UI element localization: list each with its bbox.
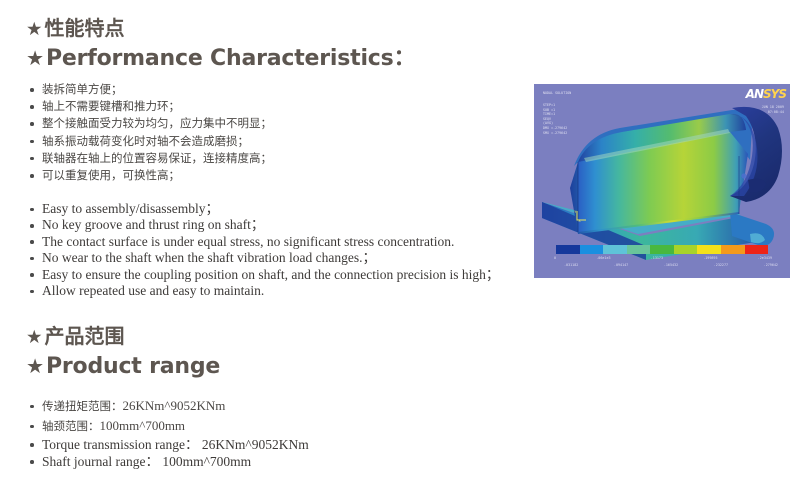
colorbar-label: 0 xyxy=(554,256,556,261)
colorbar-segment-7 xyxy=(721,245,745,254)
list-item: No key groove and thrust ring on shaft； xyxy=(30,217,499,233)
list-item: Easy to assembly/disassembly； xyxy=(30,201,499,217)
list-item: The contact surface is under equal stres… xyxy=(30,234,499,250)
product-range-bullets-cn: 传递扭矩范围：26KNm^9052KNm 轴颈范围：100mm^700mm xyxy=(30,396,225,436)
colorbar-segment-0 xyxy=(556,245,580,254)
colorbar-label: .094147 xyxy=(614,263,628,268)
product-range-bullets-en: Torque transmission range： 26KNm^9052KNm… xyxy=(30,436,309,470)
product-range-heading-cn-text: 产品范围 xyxy=(45,324,125,348)
colorbar-segment-4 xyxy=(650,245,674,254)
list-item: 传递扭矩范围：26KNm^9052KNm xyxy=(30,396,225,416)
list-item: 装拆简单方便； xyxy=(30,81,272,98)
product-range-heading-block: ★产品范围 ★Product range xyxy=(26,323,220,382)
colorbar-segment-3 xyxy=(627,245,651,254)
product-range-heading-en-text: Product range xyxy=(46,354,220,379)
product-range-heading-en: ★Product range xyxy=(26,351,220,382)
list-item: Torque transmission range： 26KNm^9052KNm xyxy=(30,436,309,453)
colorbar-segment-1 xyxy=(580,245,604,254)
fea-title-note: NODAL SOLUTION xyxy=(543,91,571,96)
colorbar-label: .13173 xyxy=(651,256,663,261)
performance-heading-cn-text: 性能特点 xyxy=(45,16,125,40)
ansys-logo: ANSYS xyxy=(746,88,786,100)
axis-triad-icon: X Y xyxy=(574,209,588,223)
star-icon: ★ xyxy=(26,325,43,351)
performance-heading-block: ★性能特点 ★Performance Characteristics： xyxy=(26,15,415,74)
list-item: 整个接触面受力较为均匀，应力集中不明显； xyxy=(30,115,272,132)
list-item: Easy to ensure the coupling position on … xyxy=(30,267,499,283)
ansys-logo-sys: SYS xyxy=(763,87,786,101)
performance-bullets-cn: 装拆简单方便； 轴上不需要键槽和推力环； 整个接触面受力较为均匀，应力集中不明显… xyxy=(30,81,272,184)
fea-meta-note: STEP=1 SUB =1 TIME=1 SEQV (AVG) DMX =.27… xyxy=(543,103,567,135)
star-icon: ★ xyxy=(26,43,44,73)
performance-heading-cn: ★性能特点 xyxy=(26,15,415,43)
journal-range-label: 轴颈范围： xyxy=(42,419,100,433)
torque-range-value: 26KNm^9052KNm xyxy=(123,398,226,413)
product-range-heading-cn: ★产品范围 xyxy=(26,323,220,351)
torque-range-label: 传递扭矩范围： xyxy=(42,399,123,413)
performance-bullets-en: Easy to assembly/disassembly； No key gro… xyxy=(30,201,499,299)
fea-timestamp-note: JUN 18 2009 07:08:44 xyxy=(762,105,784,114)
colorbar-label: .165432 xyxy=(664,263,678,268)
colorbar-segment-5 xyxy=(674,245,698,254)
list-item: 可以重复使用，可换性高； xyxy=(30,167,272,184)
star-icon: ★ xyxy=(26,17,43,43)
colorbar-segment-8 xyxy=(745,245,769,254)
colorbar-label: .031182 xyxy=(564,263,578,268)
ansys-logo-an: AN xyxy=(746,87,763,101)
list-item: 轴颈范围：100mm^700mm xyxy=(30,416,225,436)
fea-colorbar-labels-top: 0.06e1e3.13173.199895.2e3439 xyxy=(554,256,772,261)
performance-heading-en-text: Performance Characteristics： xyxy=(46,46,415,71)
colorbar-segment-2 xyxy=(603,245,627,254)
colorbar-label: .279642 xyxy=(764,263,778,268)
ansys-fea-figure: X Y NODAL SOLUTION STEP=1 SUB =1 TIME=1 … xyxy=(534,84,790,278)
list-item: Allow repeated use and easy to maintain. xyxy=(30,283,499,299)
star-icon: ★ xyxy=(26,351,44,381)
journal-range-value: 100mm^700mm xyxy=(100,418,186,433)
colorbar-label: .232277 xyxy=(714,263,728,268)
list-item: 联轴器在轴上的位置容易保证，连接精度高； xyxy=(30,150,272,167)
colorbar-label: .2e3439 xyxy=(758,256,772,261)
colorbar-segment-6 xyxy=(697,245,721,254)
list-item: 轴系振动载荷变化时对轴不会造成磨损； xyxy=(30,133,272,150)
list-item: Shaft journal range： 100mm^700mm xyxy=(30,453,309,470)
performance-heading-en: ★Performance Characteristics： xyxy=(26,43,415,74)
list-item: 轴上不需要键槽和推力环； xyxy=(30,98,272,115)
colorbar-label: .199895 xyxy=(703,256,717,261)
fea-colorbar-labels-bottom: .031182.094147.165432.232277.279642 xyxy=(564,263,778,268)
list-item: No wear to the shaft when the shaft vibr… xyxy=(30,250,499,266)
colorbar-label: .06e1e3 xyxy=(596,256,610,261)
fea-colorbar xyxy=(556,245,768,254)
